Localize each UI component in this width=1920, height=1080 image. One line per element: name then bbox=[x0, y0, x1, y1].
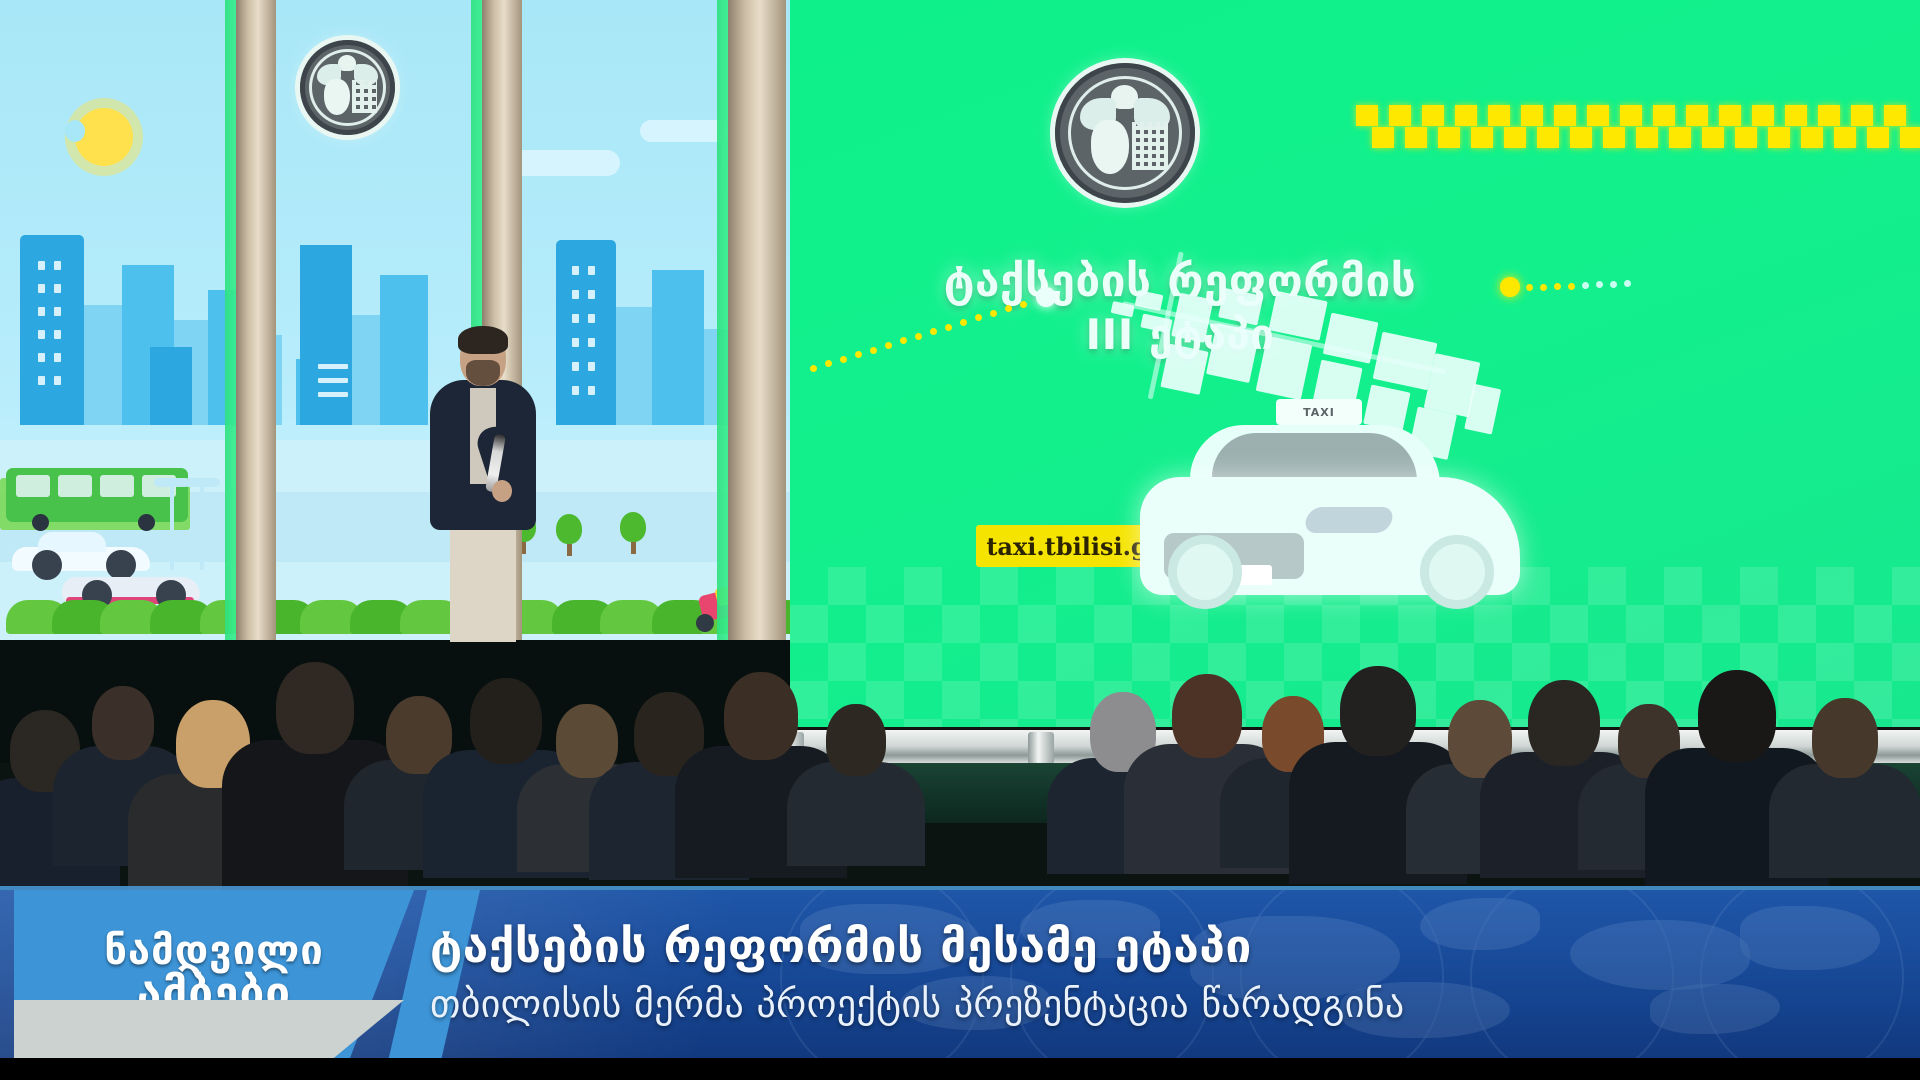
taxi-checker-strip bbox=[1356, 105, 1920, 151]
sun-icon bbox=[75, 108, 133, 166]
checker-square bbox=[1587, 105, 1609, 126]
tbilisi-city-hall-seal-icon bbox=[300, 40, 395, 135]
audience-shoulders bbox=[787, 762, 925, 866]
route-dot bbox=[1610, 281, 1617, 288]
led-skyline bbox=[0, 205, 790, 425]
letterbox-bottom bbox=[0, 1058, 1920, 1080]
taxi-car-illustration: TAXI bbox=[1120, 355, 1540, 625]
checker-square bbox=[1356, 105, 1378, 126]
route-dot bbox=[825, 360, 832, 367]
audience-head bbox=[724, 672, 798, 760]
wall-pillar bbox=[236, 0, 276, 640]
checker-square bbox=[1471, 127, 1493, 148]
checker-square bbox=[1570, 127, 1592, 148]
checker-square bbox=[1372, 127, 1394, 148]
checker-square bbox=[1818, 105, 1840, 126]
checker-square bbox=[1620, 105, 1642, 126]
route-dot bbox=[1554, 283, 1561, 290]
checker-square bbox=[1686, 105, 1708, 126]
checker-square bbox=[1554, 105, 1576, 126]
channel-tag-line1: ნამდვილი bbox=[104, 931, 324, 972]
street-lamp bbox=[170, 478, 174, 570]
checker-square bbox=[1834, 127, 1856, 148]
route-dot bbox=[945, 324, 952, 331]
audience-head bbox=[826, 704, 886, 776]
audience-head bbox=[1340, 666, 1416, 756]
taxi-roof-sign-text: TAXI bbox=[1303, 406, 1335, 419]
checker-square bbox=[1389, 105, 1411, 126]
headline: ტაქსების რეფორმის მესამე ეტაპი bbox=[430, 921, 1900, 972]
checker-square bbox=[1521, 105, 1543, 126]
street-lamp bbox=[200, 478, 204, 570]
route-dot bbox=[990, 310, 997, 317]
broadcast-frame: ტაქსების რეფორმის III ეტაპი taxi.tbilisi… bbox=[0, 0, 1920, 1080]
taxi-roof-sign: TAXI bbox=[1276, 399, 1362, 425]
checker-square bbox=[1653, 105, 1675, 126]
route-dot bbox=[1582, 282, 1589, 289]
checker-square bbox=[1752, 105, 1774, 126]
bus-illustration bbox=[6, 468, 188, 522]
audience-head bbox=[470, 678, 542, 764]
checker-square bbox=[1455, 105, 1477, 126]
subheadline: თბილისის მერმა პროექტის პრეზენტაცია წარა… bbox=[430, 983, 1900, 1027]
route-dot bbox=[885, 342, 892, 349]
checker-square bbox=[1422, 105, 1444, 126]
checker-square bbox=[1900, 127, 1920, 148]
checker-square bbox=[1636, 127, 1658, 148]
route-dot bbox=[1526, 284, 1533, 291]
tree-illustration bbox=[556, 514, 582, 556]
checker-square bbox=[1801, 127, 1823, 148]
map-block bbox=[1218, 288, 1263, 326]
lower-third-banner: ნამდვილი ამბები ტაქსების რეფორმის მესამე… bbox=[0, 860, 1920, 1080]
route-dot bbox=[960, 319, 967, 326]
checker-square bbox=[1504, 127, 1526, 148]
audience-head bbox=[1812, 698, 1878, 778]
checker-square bbox=[1405, 127, 1427, 148]
route-dot bbox=[840, 356, 847, 363]
route-dot bbox=[1596, 281, 1603, 288]
checker-square bbox=[1603, 127, 1625, 148]
audience-head bbox=[1698, 670, 1776, 762]
checker-square bbox=[1669, 127, 1691, 148]
led-wall bbox=[0, 0, 790, 640]
checker-square bbox=[1884, 105, 1906, 126]
checker-square bbox=[1719, 105, 1741, 126]
checker-square bbox=[1702, 127, 1724, 148]
route-node-start bbox=[1036, 287, 1056, 307]
checker-square bbox=[1488, 105, 1510, 126]
speaker-figure bbox=[418, 330, 548, 640]
route-dot bbox=[1624, 280, 1631, 287]
checker-square bbox=[1785, 105, 1807, 126]
route-dot bbox=[1540, 284, 1547, 291]
route-dotted-line bbox=[1512, 277, 1642, 284]
checker-square bbox=[1851, 105, 1873, 126]
checker-square bbox=[1537, 127, 1559, 148]
audience-head bbox=[556, 704, 618, 778]
checker-square bbox=[1735, 127, 1757, 148]
route-dot bbox=[870, 347, 877, 354]
route-dotted-line bbox=[810, 295, 1040, 302]
audience-head bbox=[276, 662, 354, 754]
checker-square bbox=[1438, 127, 1460, 148]
checker-square bbox=[1867, 127, 1889, 148]
lower-third-text: ტაქსების რეფორმის მესამე ეტაპი თბილისის … bbox=[420, 890, 1900, 1058]
audience-head bbox=[1172, 674, 1242, 758]
tbilisi-city-hall-seal-icon bbox=[1055, 63, 1195, 203]
route-node-end bbox=[1500, 277, 1520, 297]
route-dot bbox=[1568, 283, 1575, 290]
route-dot bbox=[810, 365, 817, 372]
tree-illustration bbox=[620, 512, 646, 554]
route-dot bbox=[915, 333, 922, 340]
audience-head bbox=[92, 686, 154, 760]
wall-pillar bbox=[728, 0, 786, 640]
checker-square bbox=[1768, 127, 1790, 148]
route-dot bbox=[1020, 301, 1027, 308]
audience bbox=[0, 600, 1920, 900]
audience-head bbox=[1528, 680, 1600, 766]
